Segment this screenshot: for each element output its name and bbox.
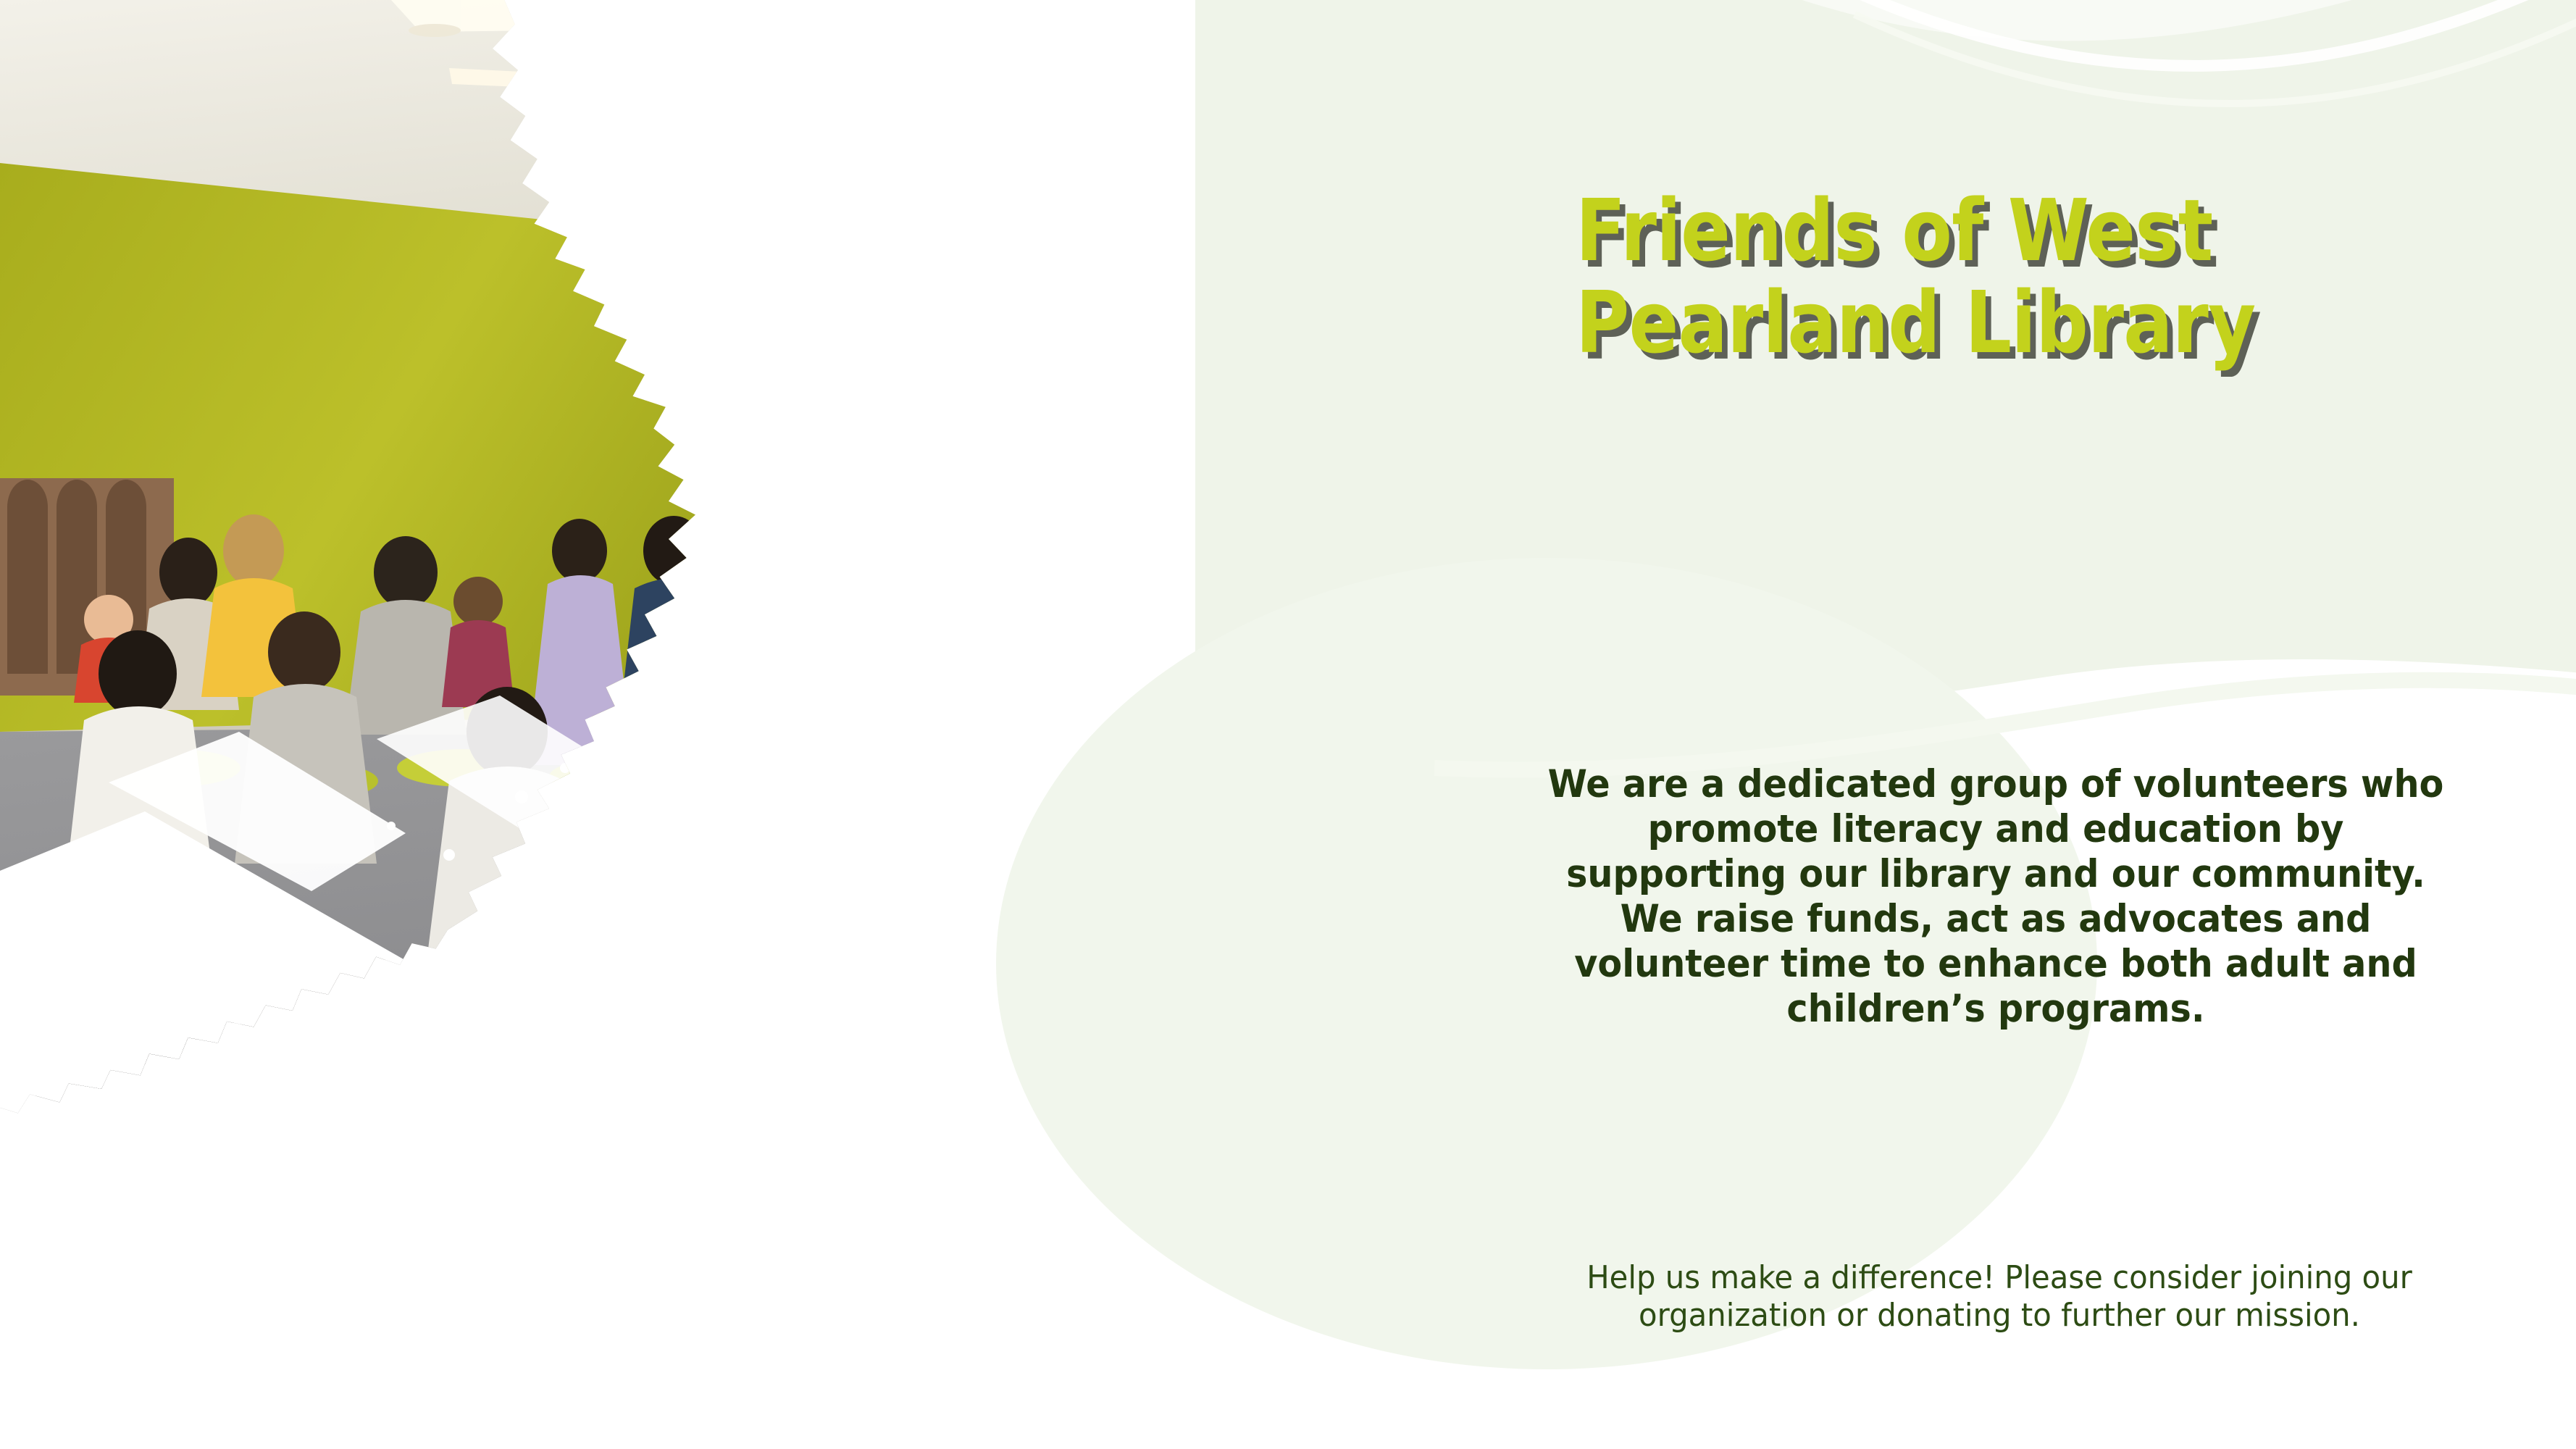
- slide-canvas: Time For a Book!: [0, 0, 2576, 1449]
- call-to-action-text: Help us make a difference! Please consid…: [1545, 1259, 2454, 1335]
- mission-statement: We are a dedicated group of volunteers w…: [1548, 762, 2444, 1032]
- page-title: Friends of West Pearland Library: [1576, 185, 2354, 369]
